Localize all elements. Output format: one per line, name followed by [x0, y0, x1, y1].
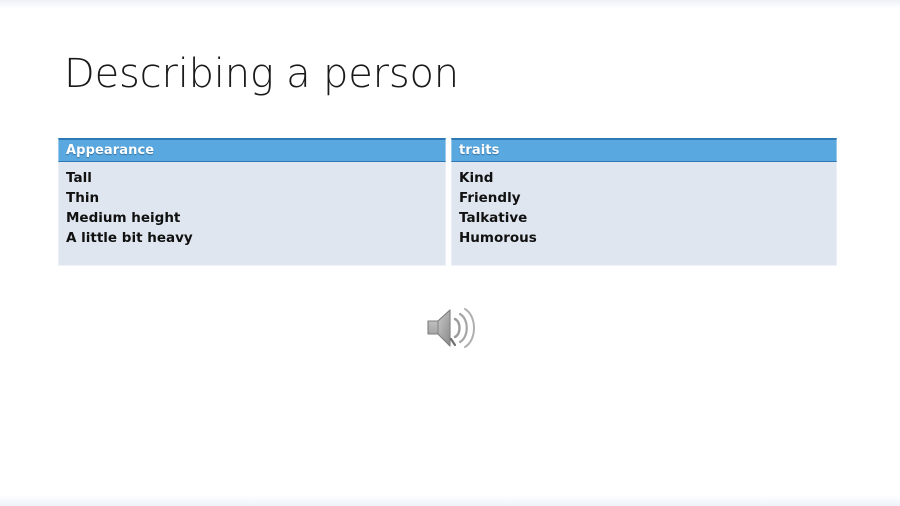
- slide-canvas: Describing a person Appearance Tall Thin…: [0, 0, 900, 506]
- table-row: Humorous: [459, 228, 836, 248]
- page-title: Describing a person: [64, 51, 459, 97]
- table-column-traits: traits Kind Friendly Talkative Humorous: [451, 138, 837, 266]
- speaker-icon[interactable]: [424, 303, 478, 353]
- table-header-cell-traits: traits: [451, 138, 837, 162]
- table-row: Tall: [66, 168, 445, 188]
- viewer-top-band: [0, 0, 900, 9]
- table-column-appearance: Appearance Tall Thin Medium height A lit…: [58, 138, 446, 266]
- table-row: A little bit heavy: [66, 228, 445, 248]
- table-body-traits: Kind Friendly Talkative Humorous: [451, 162, 837, 266]
- table-row: Thin: [66, 188, 445, 208]
- table-body-appearance: Tall Thin Medium height A little bit hea…: [58, 162, 446, 266]
- table-header-cell-appearance: Appearance: [58, 138, 446, 162]
- table-row: Medium height: [66, 208, 445, 228]
- table-header-label: traits: [459, 143, 499, 158]
- content-table: Appearance Tall Thin Medium height A lit…: [58, 138, 837, 266]
- table-row: Kind: [459, 168, 836, 188]
- table-header-label: Appearance: [66, 143, 154, 158]
- table-row: Friendly: [459, 188, 836, 208]
- table-row: Talkative: [459, 208, 836, 228]
- viewer-bottom-band: [0, 495, 900, 506]
